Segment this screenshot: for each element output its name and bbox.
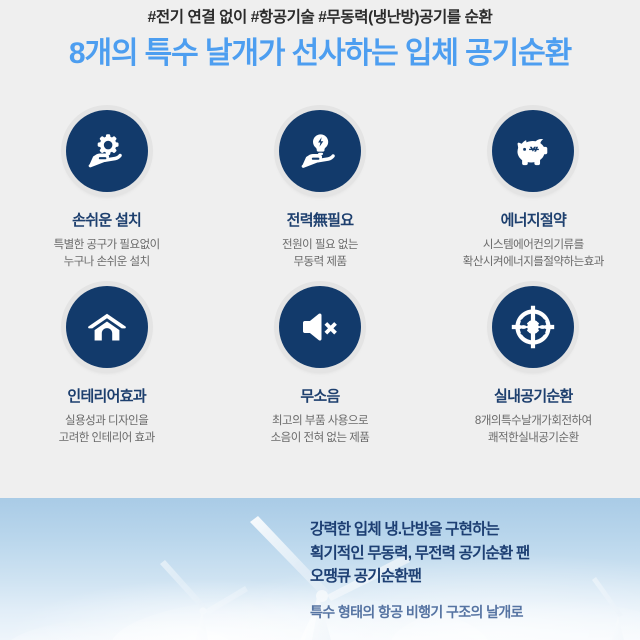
piggy-bank-won-icon (510, 128, 556, 174)
feature-description: 시스템에어컨의기류를 확산시켜에너지를절약하는효과 (427, 237, 640, 270)
infographic-page: #전기 연결 없이 #항공기술 #무동력(냉난방)공기를 순환 8개의 특수 날… (0, 0, 640, 640)
hashtag-line: #전기 연결 없이 #항공기술 #무동력(냉난방)공기를 순환 (0, 9, 640, 28)
speaker-mute-icon (296, 303, 344, 351)
feature-title: 실내공기순환 (427, 388, 640, 406)
feature-title: 전력無필요 (213, 212, 426, 230)
feature-badge (66, 110, 148, 192)
feature-item: 전력無필요 전원이 필요 없는 무동력 제품 (213, 110, 426, 270)
feature-item: 에너지절약 시스템에어컨의기류를 확산시켜에너지를절약하는효과 (427, 110, 640, 270)
feature-title: 무소음 (213, 388, 426, 406)
bottom-line-2: 획기적인 무동력, 무전력 공기순환 팬 (310, 542, 640, 566)
main-headline: 8개의 특수 날개가 선사하는 입체 공기순환 (0, 37, 640, 72)
sky-banner: 강력한 입체 냉.난방을 구현하는 획기적인 무동력, 무전력 공기순환 팬 오… (0, 498, 640, 640)
feature-badge (492, 286, 574, 368)
feature-badge (492, 110, 574, 192)
feature-item: 인테리어효과 실용성과 디자인을 고려한 인테리어 효과 (0, 286, 213, 446)
feature-description: 실용성과 디자인을 고려한 인테리어 효과 (0, 413, 213, 446)
feature-description: 전원이 필요 없는 무동력 제품 (213, 237, 426, 270)
hand-holding-gear-icon (83, 127, 131, 175)
bottom-line-1: 강력한 입체 냉.난방을 구현하는 (310, 518, 640, 542)
feature-badge (66, 286, 148, 368)
bottom-copy: 강력한 입체 냉.난방을 구현하는 획기적인 무동력, 무전력 공기순환 팬 오… (310, 518, 640, 623)
feature-grid: 손쉬운 설치 특별한 공구가 필요없이 누구나 손쉬운 설치 전 (0, 110, 640, 463)
feature-description: 최고의 부품 사용으로 소음이 전혀 없는 제품 (213, 413, 426, 446)
feature-badge (279, 110, 361, 192)
feature-item: 무소음 최고의 부품 사용으로 소음이 전혀 없는 제품 (213, 286, 426, 446)
feature-title: 손쉬운 설치 (0, 212, 213, 230)
feature-title: 에너지절약 (427, 212, 640, 230)
feature-item: 손쉬운 설치 특별한 공구가 필요없이 누구나 손쉬운 설치 (0, 110, 213, 270)
air-circulation-fan-icon (509, 303, 557, 351)
hand-holding-lightbulb-icon (296, 127, 344, 175)
feature-description: 특별한 공구가 필요없이 누구나 손쉬운 설치 (0, 237, 213, 270)
house-icon (83, 303, 131, 351)
feature-item: 실내공기순환 8개의특수날개가회전하여 쾌적한실내공기순환 (427, 286, 640, 446)
feature-description: 8개의특수날개가회전하여 쾌적한실내공기순환 (427, 413, 640, 446)
bottom-subline: 특수 형태의 항공 비행기 구조의 날개로 (310, 602, 640, 623)
feature-badge (279, 286, 361, 368)
bottom-line-3: 오땡큐 공기순환팬 (310, 565, 640, 589)
feature-title: 인테리어효과 (0, 388, 213, 406)
header: #전기 연결 없이 #항공기술 #무동력(냉난방)공기를 순환 8개의 특수 날… (0, 0, 640, 71)
